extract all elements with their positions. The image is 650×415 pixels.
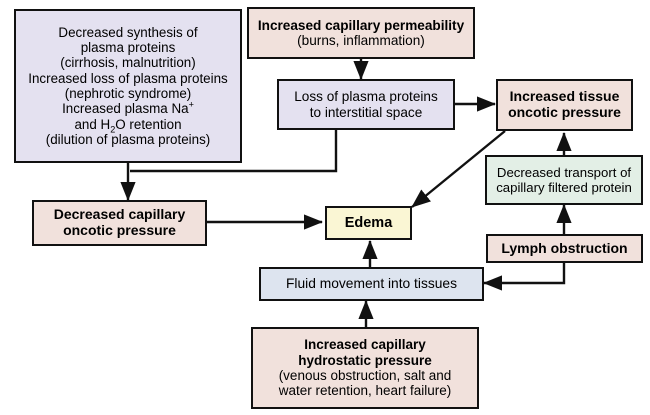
- capillary-hydrostatic-sub1: (venous obstruction, salt and: [279, 368, 452, 383]
- node-capillary-hydrostatic: Increased capillaryhydrostatic pressure(…: [251, 327, 479, 409]
- capillary-hydrostatic-heading1: Increased capillary: [304, 337, 426, 352]
- capillary-permeability-heading: Increased capillary permeability: [258, 18, 464, 33]
- node-plasma-protein-causes: Decreased synthesis ofplasma proteins(ci…: [14, 9, 242, 163]
- plasma-protein-causes-text: Decreased synthesis ofplasma proteins(ci…: [16, 25, 240, 147]
- node-tissue-oncotic-pressure: Increased tissue oncotic pressure: [496, 79, 633, 131]
- lymph-obstruction-text: Lymph obstruction: [488, 241, 641, 257]
- tissue-oncotic-pressure-text: Increased tissue oncotic pressure: [498, 89, 631, 121]
- elbow-lymph-to-fluid: [484, 262, 564, 283]
- loss-plasma-proteins-text: Loss of plasma proteins to interstitial …: [279, 89, 453, 120]
- edema-text: Edema: [327, 215, 410, 232]
- node-loss-plasma-proteins: Loss of plasma proteins to interstitial …: [277, 79, 455, 130]
- node-edema: Edema: [325, 206, 412, 240]
- fluid-movement-text: Fluid movement into tissues: [261, 276, 482, 292]
- capillary-permeability-sub: (burns, inflammation): [297, 33, 425, 48]
- node-fluid-movement: Fluid movement into tissues: [259, 267, 484, 301]
- decreased-transport-text: Decreased transport of capillary filtere…: [487, 165, 641, 195]
- node-lymph-obstruction: Lymph obstruction: [486, 234, 643, 263]
- node-capillary-permeability: Increased capillary permeability(burns, …: [247, 7, 475, 59]
- decreased-capillary-oncotic-text: Decreased capillary oncotic pressure: [34, 207, 205, 239]
- capillary-permeability-text: Increased capillary permeability(burns, …: [249, 18, 473, 49]
- capillary-hydrostatic-heading2: hydrostatic pressure: [298, 353, 432, 368]
- node-decreased-capillary-oncotic: Decreased capillary oncotic pressure: [32, 200, 207, 246]
- edema-flowchart: Decreased synthesis ofplasma proteins(ci…: [0, 0, 650, 415]
- node-decreased-transport: Decreased transport of capillary filtere…: [485, 155, 643, 205]
- capillary-hydrostatic-sub2: water retention, heart failure): [279, 383, 452, 398]
- capillary-hydrostatic-text: Increased capillaryhydrostatic pressure(…: [253, 337, 477, 399]
